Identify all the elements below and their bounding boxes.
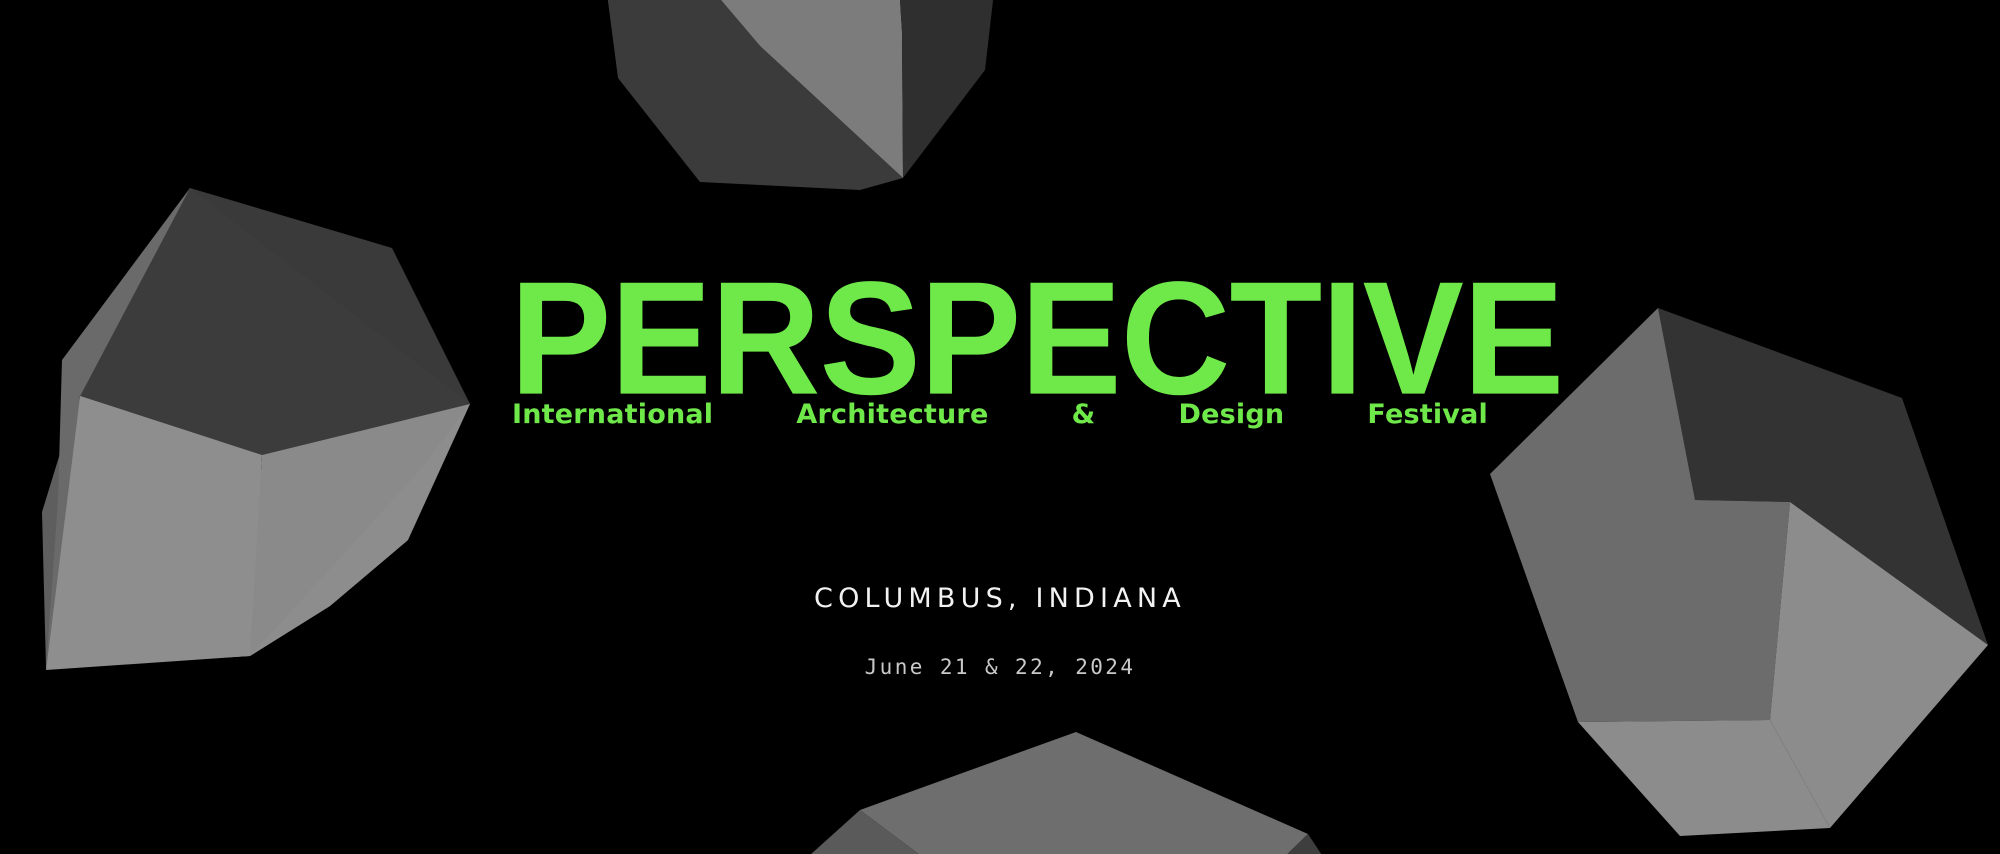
festival-hero-banner: PERSPECTIVE International Architecture &…	[0, 0, 2000, 854]
event-location: COLUMBUS, INDIANA	[814, 583, 1186, 614]
hero-content: PERSPECTIVE International Architecture &…	[0, 0, 2000, 854]
page-title: PERSPECTIVE	[510, 276, 1490, 402]
title-block: PERSPECTIVE International Architecture &…	[505, 276, 1495, 428]
event-date: June 21 & 22, 2024	[865, 655, 1136, 679]
